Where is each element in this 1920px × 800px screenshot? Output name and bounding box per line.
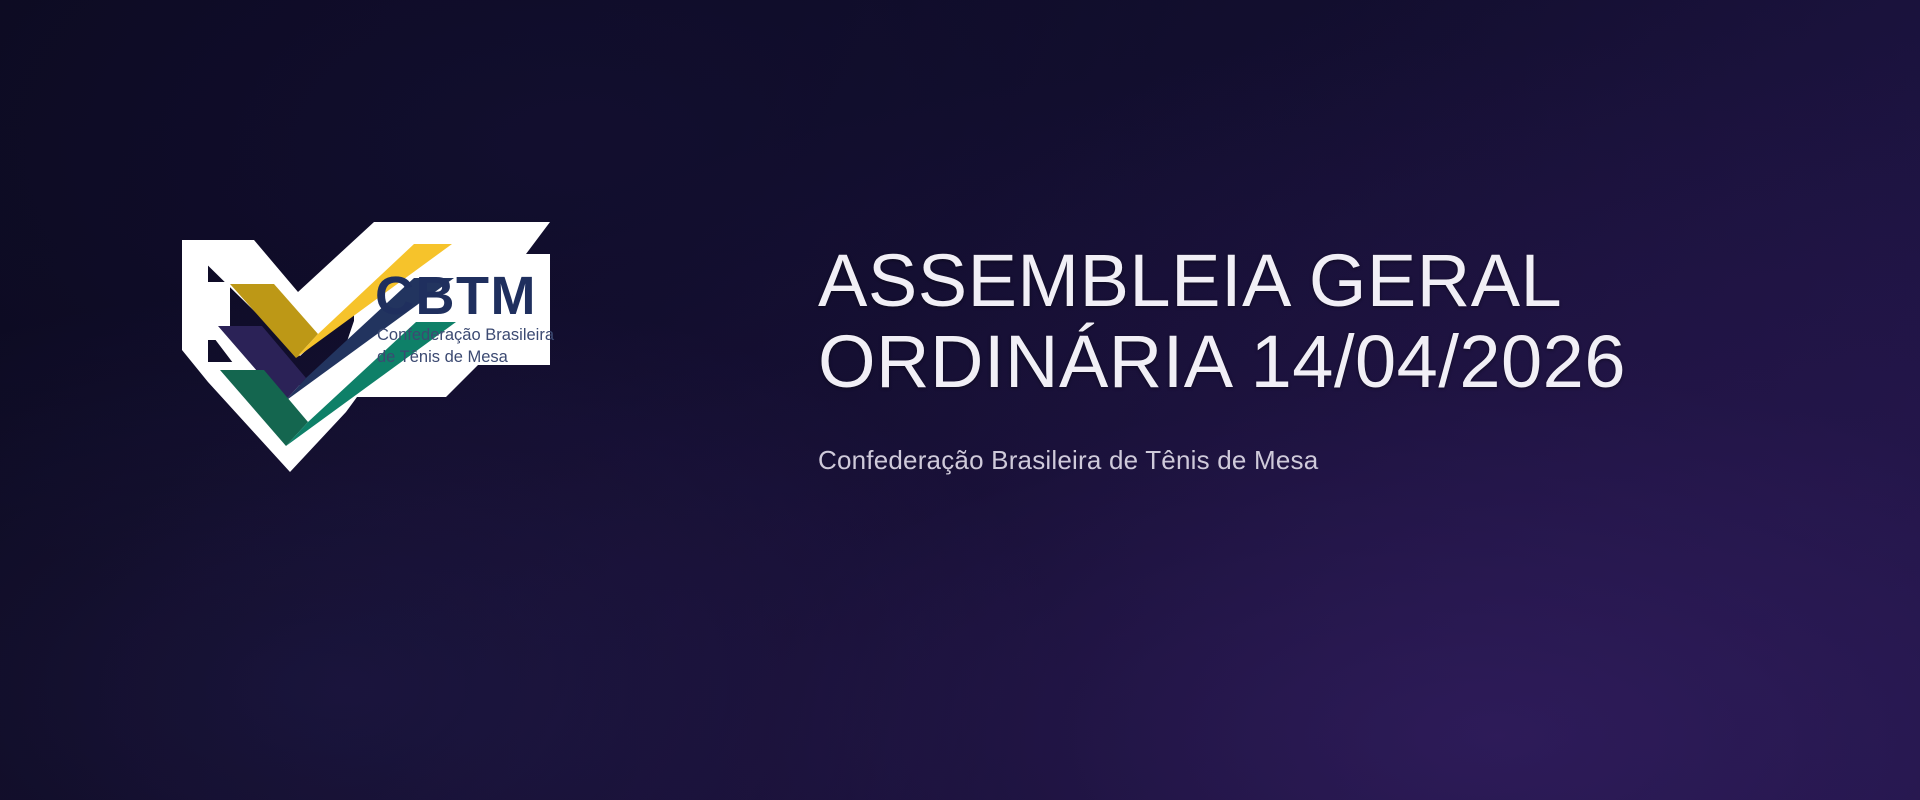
banner-stage: CBTM Confederação Brasileira de Tênis de…	[0, 0, 1920, 800]
banner-content: CBTM Confederação Brasileira de Tênis de…	[0, 0, 1920, 800]
cbtm-logo: CBTM Confederação Brasileira de Tênis de…	[178, 222, 648, 472]
cbtm-logo-graphic: CBTM Confederação Brasileira de Tênis de…	[178, 222, 648, 472]
logo-tagline-line2: de Tênis de Mesa	[377, 348, 509, 366]
page-subtitle: Confederação Brasileira de Tênis de Mesa	[818, 445, 1818, 476]
headline-block: ASSEMBLEIA GERAL ORDINÁRIA 14/04/2026 Co…	[818, 240, 1818, 476]
logo-wordmark: CBTM	[375, 266, 537, 326]
page-title: ASSEMBLEIA GERAL ORDINÁRIA 14/04/2026	[818, 240, 1818, 403]
logo-tagline-line1: Confederação Brasileira	[377, 326, 555, 344]
